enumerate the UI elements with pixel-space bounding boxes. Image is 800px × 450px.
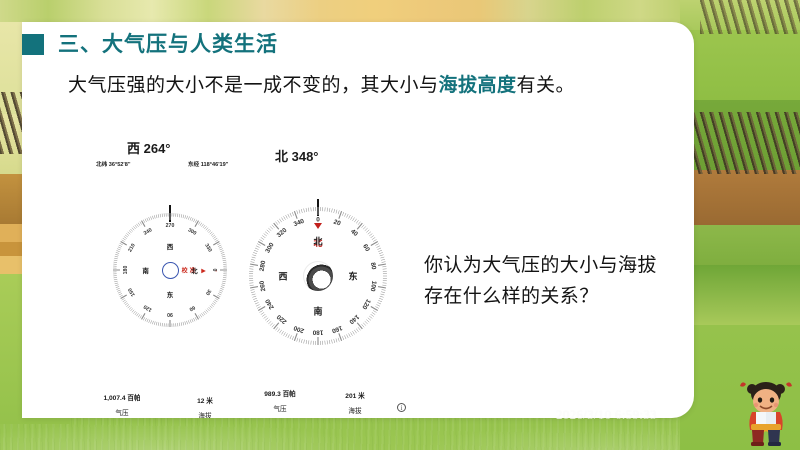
dial-degree-label: 0 — [316, 217, 320, 224]
title-label: 三、大气压与人类生活 — [58, 28, 278, 58]
readout-label: 气压 — [240, 403, 320, 413]
readout-value: 1,007.4 百帕 — [82, 392, 162, 402]
cardinal-direction-label: 西 — [167, 241, 174, 251]
lead-text-before: 大气压强的大小不是一成不变的，其大小与 — [68, 75, 439, 96]
dial-degree-label: 180 — [123, 266, 129, 275]
compass-north-heading: 北 348° — [275, 146, 319, 165]
title-bullet-square — [22, 34, 44, 55]
mascot-character — [738, 378, 794, 446]
latitude-label: 北纬 36°52'8" — [96, 160, 131, 168]
compass-screenshot: 西 264° 北 348° 北纬 36°52'8" 东经 118°46'19" … — [70, 120, 415, 412]
compass-west-heading: 西 264° — [127, 138, 171, 157]
question-block: 你认为大气压的大小与海拔 存在什么样的关系？ — [424, 250, 692, 312]
cardinal-direction-label: 西 — [278, 270, 287, 283]
cardinal-direction-label: 东 — [348, 270, 357, 283]
north-marker-triangle-icon — [314, 223, 322, 229]
lead-text-highlight: 海拔高度 — [439, 75, 517, 96]
cardinal-direction-label: 北 — [191, 265, 198, 275]
readout-altitude-high: 201 米 海拔 — [320, 390, 390, 415]
lead-text-after: 有关。 — [517, 75, 576, 96]
question-line-2: 存在什么样的关系？ — [424, 281, 692, 312]
dial-degree-label: 180 — [313, 329, 324, 336]
compass-dial-west: 校准 ▶ ▫ 2703003300306090120150180210240 西… — [112, 212, 228, 328]
readout-label: 海拔 — [170, 410, 240, 418]
readout-value: 989.3 百帕 — [240, 388, 320, 398]
cardinal-direction-label: 南 — [313, 305, 322, 318]
readout-label: 气压 — [82, 407, 162, 417]
readout-pressure-low: 1,007.4 百帕 气压 — [82, 392, 162, 417]
question-line-1: 你认为大气压的大小与海拔 — [424, 250, 692, 281]
content-card: 三、大气压与人类生活 大气压强的大小不是一成不变的，其大小与海拔高度有关。 你认… — [22, 22, 694, 418]
dial-degree-label: 270 — [166, 223, 175, 229]
cardinal-direction-label: 东 — [167, 289, 174, 299]
cardinal-direction-label: 南 — [142, 265, 149, 275]
compass-hub-west — [162, 262, 179, 279]
readout-value: 201 米 — [320, 390, 390, 400]
compass-hub-north — [303, 261, 333, 291]
longitude-label: 东经 118°46'19" — [188, 160, 228, 168]
page-title: 三、大气压与人类生活 — [22, 22, 278, 64]
dial-degree-label: 260 — [258, 280, 267, 292]
readout-label: 海拔 — [320, 405, 390, 415]
lead-sentence: 大气压强的大小不是一成不变的，其大小与海拔高度有关。 — [68, 70, 688, 97]
info-icon[interactable]: i — [397, 403, 406, 412]
readout-altitude-low: 12 米 海拔 — [170, 395, 240, 418]
dial-degree-label: 90 — [167, 311, 173, 317]
readout-pressure-high: 989.3 百帕 气压 — [240, 388, 320, 413]
cardinal-direction-label: 北 — [313, 235, 322, 248]
dial-degree-label: 0 — [211, 269, 217, 272]
readout-value: 12 米 — [170, 395, 240, 405]
timestamp: 2026/3/10 6:59:33 — [556, 407, 657, 423]
compass-dial-north: 北 02040608010012014016018020022024026028… — [248, 206, 388, 346]
slide-root: 三、大气压与人类生活 大气压强的大小不是一成不变的，其大小与海拔高度有关。 你认… — [0, 0, 800, 450]
